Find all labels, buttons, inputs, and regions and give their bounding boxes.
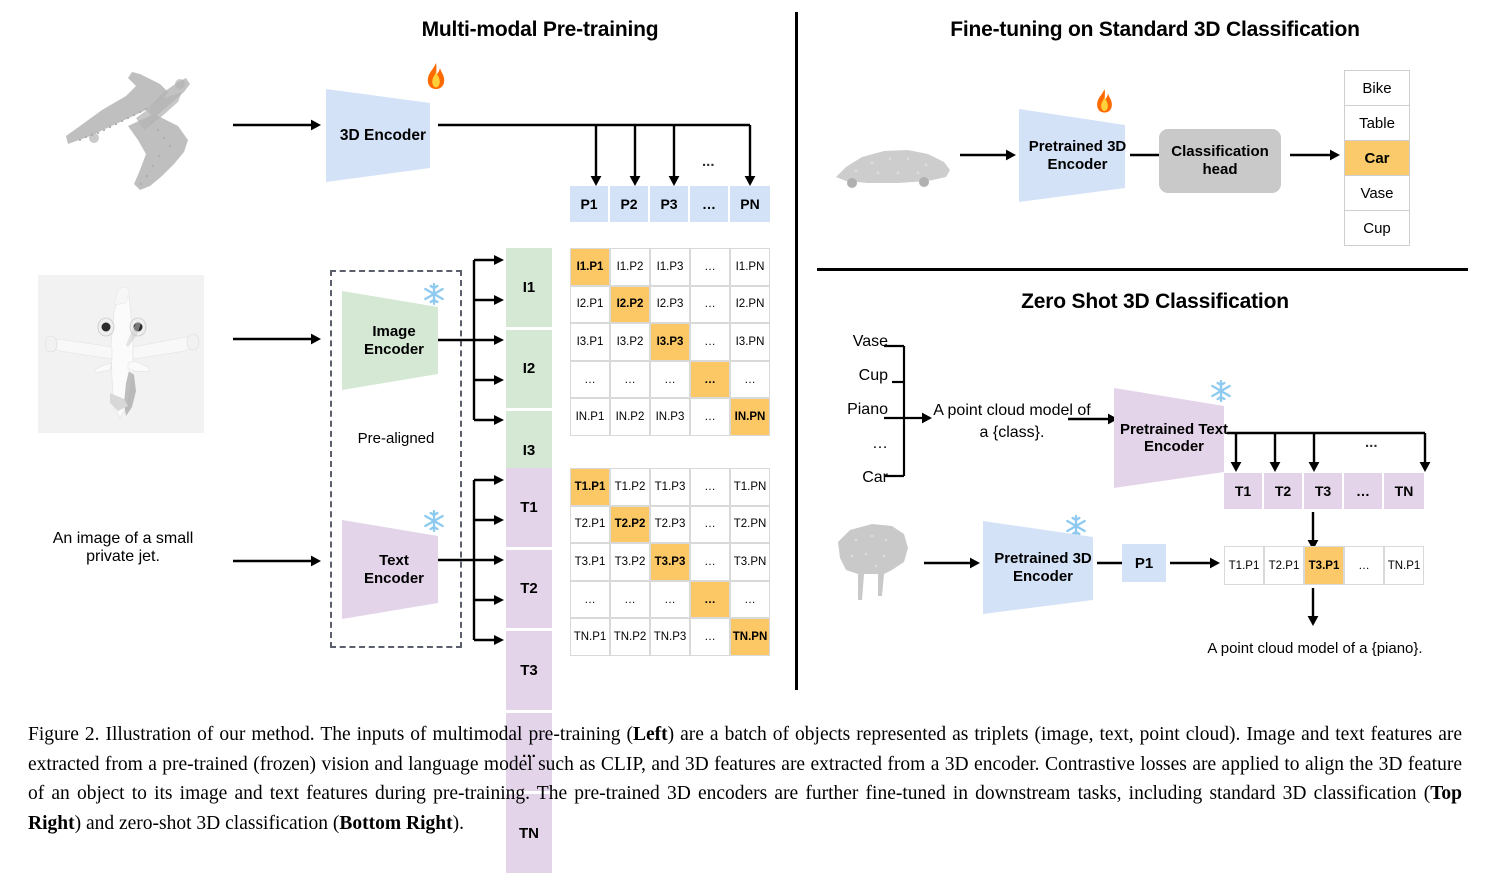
zeroshot-class-list: VaseCupPiano…Car [826,334,888,486]
arrow-scores-to-result [1306,588,1320,628]
image-matrix-cell: … [690,398,730,436]
text-matrix-cell: T2.PN [730,506,770,544]
ellipsis-t-row-arrows: ... [1365,434,1378,451]
horizontal-divider [817,268,1468,271]
input-image-jet [38,275,204,433]
classification-head[interactable]: Classification head [1159,129,1281,193]
text-matrix-cell: … [570,581,610,619]
point-cloud-airplane [28,48,243,208]
text-matrix-cell: T2.P2 [610,506,650,544]
class-option-vase[interactable]: Vase [1345,176,1409,211]
text-matrix-cell: T3.P2 [610,543,650,581]
similarity-score-cell: T3.P1 [1304,546,1344,585]
image-matrix-cell: IN.PN [730,398,770,436]
point-feature-cell: P1 [570,186,610,222]
zeroshot-result: A point cloud model of a {piano}. [1150,640,1480,657]
text-matrix-cell: T1.P1 [570,468,610,506]
point-cloud-car [828,135,956,195]
text-feature-label: T3 [506,631,552,713]
class-option-cup[interactable]: Cup [1345,211,1409,245]
encoder-pretrained-3d-zs-label: Pretrained 3D Encoder [994,550,1092,585]
image-matrix-cell: … [730,361,770,399]
caption-emphasis: Bottom Right [339,813,452,834]
encoder-pretrained-text[interactable]: Pretrained Text Encoder [1114,388,1234,488]
text-feature-cell: … [1344,473,1384,509]
prealigned-label: Pre-aligned [330,430,462,447]
caption-emphasis: Left [633,724,668,745]
encoder-pretrained-3d-label: Pretrained 3D Encoder [1029,138,1127,173]
panel-title-topright: Fine-tuning on Standard 3D Classificatio… [840,18,1470,42]
image-matrix-cell: I3.PN [730,323,770,361]
arrow-head-to-classes [1290,148,1342,162]
text-feature-label: T2 [506,550,552,632]
input-text-caption: An image of a small private jet. [28,530,218,566]
caption-text: ). [453,813,464,834]
panel-title-left: Multi-modal Pre-training [290,18,790,42]
text-matrix-cell: TN.PN [730,618,770,656]
image-matrix-cell: IN.P3 [650,398,690,436]
text-feature-label: T1 [506,468,552,550]
text-matrix-cell: T2.P3 [650,506,690,544]
text-matrix-cell: … [690,506,730,544]
point-feature-cell: P3 [650,186,690,222]
image-matrix-cell: … [690,248,730,286]
similarity-score-cell: TN.P1 [1384,546,1424,585]
connector-encoder-to-point-features [438,118,768,190]
arrow-image-to-encoder [233,332,323,346]
image-matrix-cell: I1.PN [730,248,770,286]
text-feature-cell: T3 [1304,473,1344,509]
text-matrix-cell: … [690,581,730,619]
text-matrix-cell: TN.P2 [610,618,650,656]
arrow-car-to-encoder [960,148,1018,162]
text-matrix-cell: … [610,581,650,619]
arrow-p1-to-scores [1170,556,1222,570]
text-matrix-cell: T3.P1 [570,543,610,581]
image-feature-label: I1 [506,248,552,330]
encoder-3d[interactable]: 3D Encoder [326,89,440,182]
text-matrix-cell: … [690,618,730,656]
class-option-table[interactable]: Table [1345,106,1409,141]
image-matrix-cell: … [610,361,650,399]
text-matrix-cell: T1.P3 [650,468,690,506]
text-feature-cell: TN [1384,473,1424,509]
image-matrix-cell: I1.P3 [650,248,690,286]
ellipsis-point-arrows: ... [702,153,715,170]
figure-caption: Figure 2. Illustration of our method. Th… [28,720,1462,839]
text-feature-row-zeroshot: T1T2T3…TN [1224,473,1424,509]
image-feature-label: I2 [506,330,552,412]
text-similarity-matrix: T1.P1T1.P2T1.P3…T1.PNT2.P1T2.P2T2.P3…T2.… [570,468,770,656]
text-matrix-cell: TN.P1 [570,618,610,656]
point-feature-row: P1P2P3…PN [570,186,770,222]
text-matrix-cell: … [650,581,690,619]
image-similarity-matrix: I1.P1I1.P2I1.P3…I1.PNI2.P1I2.P2I2.P3…I2.… [570,248,770,436]
image-matrix-cell: I2.P3 [650,286,690,324]
encoder-image-label: Image Encoder [364,323,424,358]
similarity-score-cell: T2.P1 [1264,546,1304,585]
image-matrix-cell: IN.P2 [610,398,650,436]
image-matrix-cell: I3.P3 [650,323,690,361]
text-matrix-cell: T1.P2 [610,468,650,506]
text-matrix-cell: … [730,581,770,619]
caption-text: Figure 2. Illustration of our method. Th… [28,724,633,745]
point-feature-cell: P2 [610,186,650,222]
point-cloud-piano [828,512,918,612]
image-matrix-cell: I3.P2 [610,323,650,361]
point-feature-cell: … [690,186,730,222]
image-matrix-cell: I2.PN [730,286,770,324]
image-matrix-cell: I2.P1 [570,286,610,324]
connector-text-encoder-to-t-row [1227,428,1437,476]
class-option-bike[interactable]: Bike [1345,71,1409,106]
text-matrix-cell: … [690,468,730,506]
text-matrix-cell: TN.P3 [650,618,690,656]
encoder-pretrained-3d-zeroshot[interactable]: Pretrained 3D Encoder [983,521,1103,614]
panel-title-bottomright: Zero Shot 3D Classification [840,290,1470,314]
image-matrix-cell: … [650,361,690,399]
similarity-score-row: T1.P1T2.P1T3.P1…TN.P1 [1224,546,1424,585]
image-matrix-cell: I2.P2 [610,286,650,324]
caption-text: ) and zero-shot 3D classification ( [75,813,340,834]
image-matrix-cell: I3.P1 [570,323,610,361]
arrow-pointcloud-to-encoder [233,118,323,132]
classification-head-label: Classification head [1171,143,1269,179]
image-matrix-cell: I1.P2 [610,248,650,286]
connector-image-encoder-to-labels [438,255,508,425]
image-matrix-cell: … [690,323,730,361]
text-matrix-cell: T2.P1 [570,506,610,544]
encoder-text-label: Text Encoder [364,552,424,587]
image-matrix-cell: I1.P1 [570,248,610,286]
image-matrix-cell: … [690,286,730,324]
arrow-piano-to-encoder [924,556,982,570]
p1-feature-box: P1 [1122,544,1166,582]
vertical-divider [795,12,798,690]
similarity-score-cell: … [1344,546,1384,585]
arrow-prompt-to-text-encoder [1068,412,1120,426]
p1-feature-label: P1 [1135,555,1153,572]
text-matrix-cell: T3.P3 [650,543,690,581]
classification-output-list[interactable]: BikeTableCarVaseCup [1344,70,1410,246]
point-feature-cell: PN [730,186,770,222]
similarity-score-cell: T1.P1 [1224,546,1264,585]
encoder-text[interactable]: Text Encoder [342,520,446,619]
text-matrix-cell: T1.PN [730,468,770,506]
encoder-3d-label: 3D Encoder [340,127,426,145]
connector-text-encoder-to-labels [438,475,508,645]
text-feature-cell: T2 [1264,473,1304,509]
class-option-car[interactable]: Car [1345,141,1409,176]
image-matrix-cell: … [570,361,610,399]
text-matrix-cell: T3.PN [730,543,770,581]
text-matrix-cell: … [690,543,730,581]
arrow-text-to-encoder [233,554,323,568]
encoder-image[interactable]: Image Encoder [342,291,446,390]
image-matrix-cell: IN.P1 [570,398,610,436]
encoder-pretrained-text-label: Pretrained Text Encoder [1120,421,1228,456]
encoder-pretrained-3d-finetune[interactable]: Pretrained 3D Encoder [1019,109,1136,202]
image-matrix-cell: … [690,361,730,399]
